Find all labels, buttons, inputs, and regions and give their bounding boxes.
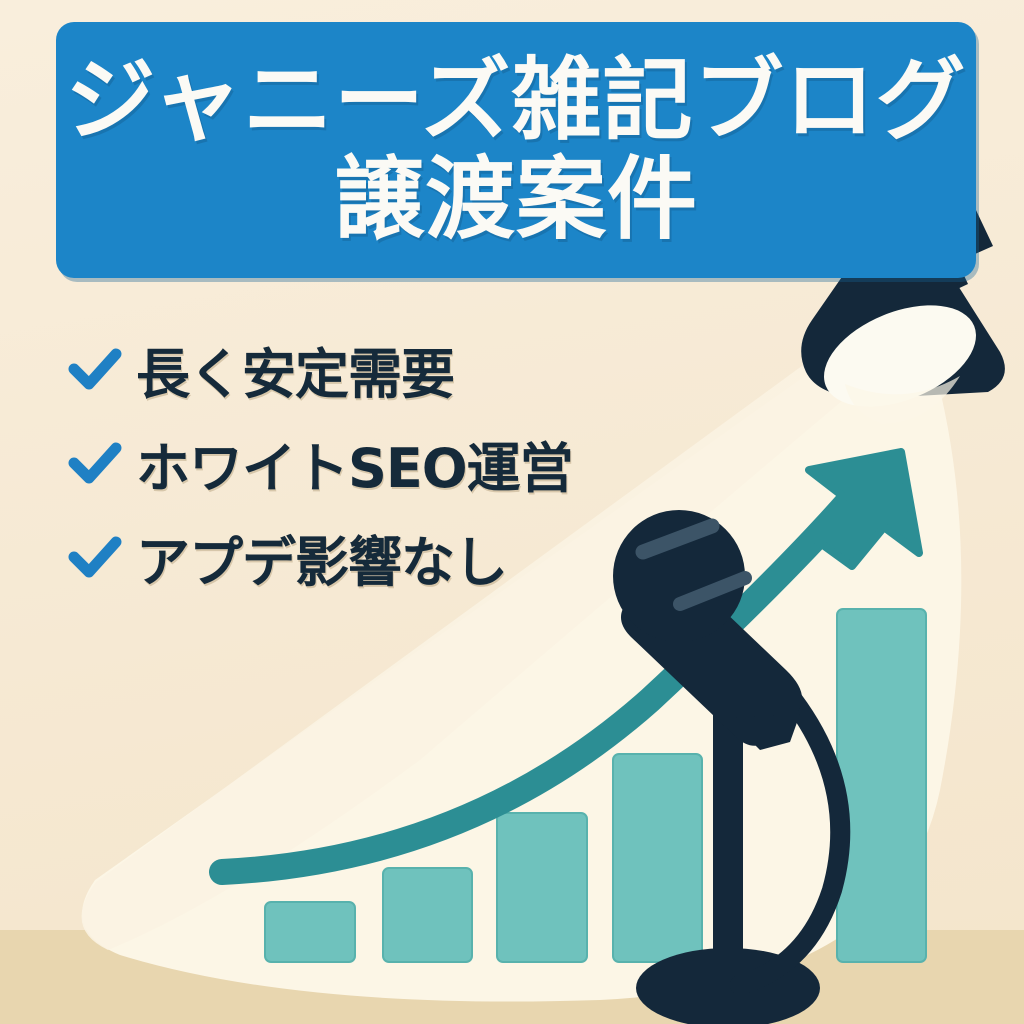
check-icon	[68, 342, 122, 396]
list-item: ホワイトSEO運営	[68, 416, 668, 510]
title-banner	[56, 22, 976, 278]
list-item-label: アプデ影響なし	[136, 518, 507, 597]
check-icon	[68, 530, 122, 584]
bar-5	[837, 609, 926, 962]
list-item-label: 長く安定需要	[136, 330, 454, 409]
bar-1	[265, 902, 355, 962]
poster-canvas: ジャニーズ雑記ブログ 譲渡案件 長く安定需要 ホワイトSEO運営 アプデ影響なし	[0, 0, 1024, 1024]
feature-list: 長く安定需要 ホワイトSEO運営 アプデ影響なし	[68, 322, 668, 604]
check-icon	[68, 436, 122, 490]
list-item-label: ホワイトSEO運営	[136, 424, 573, 503]
list-item: 長く安定需要	[68, 322, 668, 416]
bar-2	[383, 868, 472, 962]
bar-3	[497, 813, 587, 962]
mic-stand-pole	[713, 700, 743, 990]
bar-4	[613, 754, 702, 962]
list-item: アプデ影響なし	[68, 510, 668, 604]
